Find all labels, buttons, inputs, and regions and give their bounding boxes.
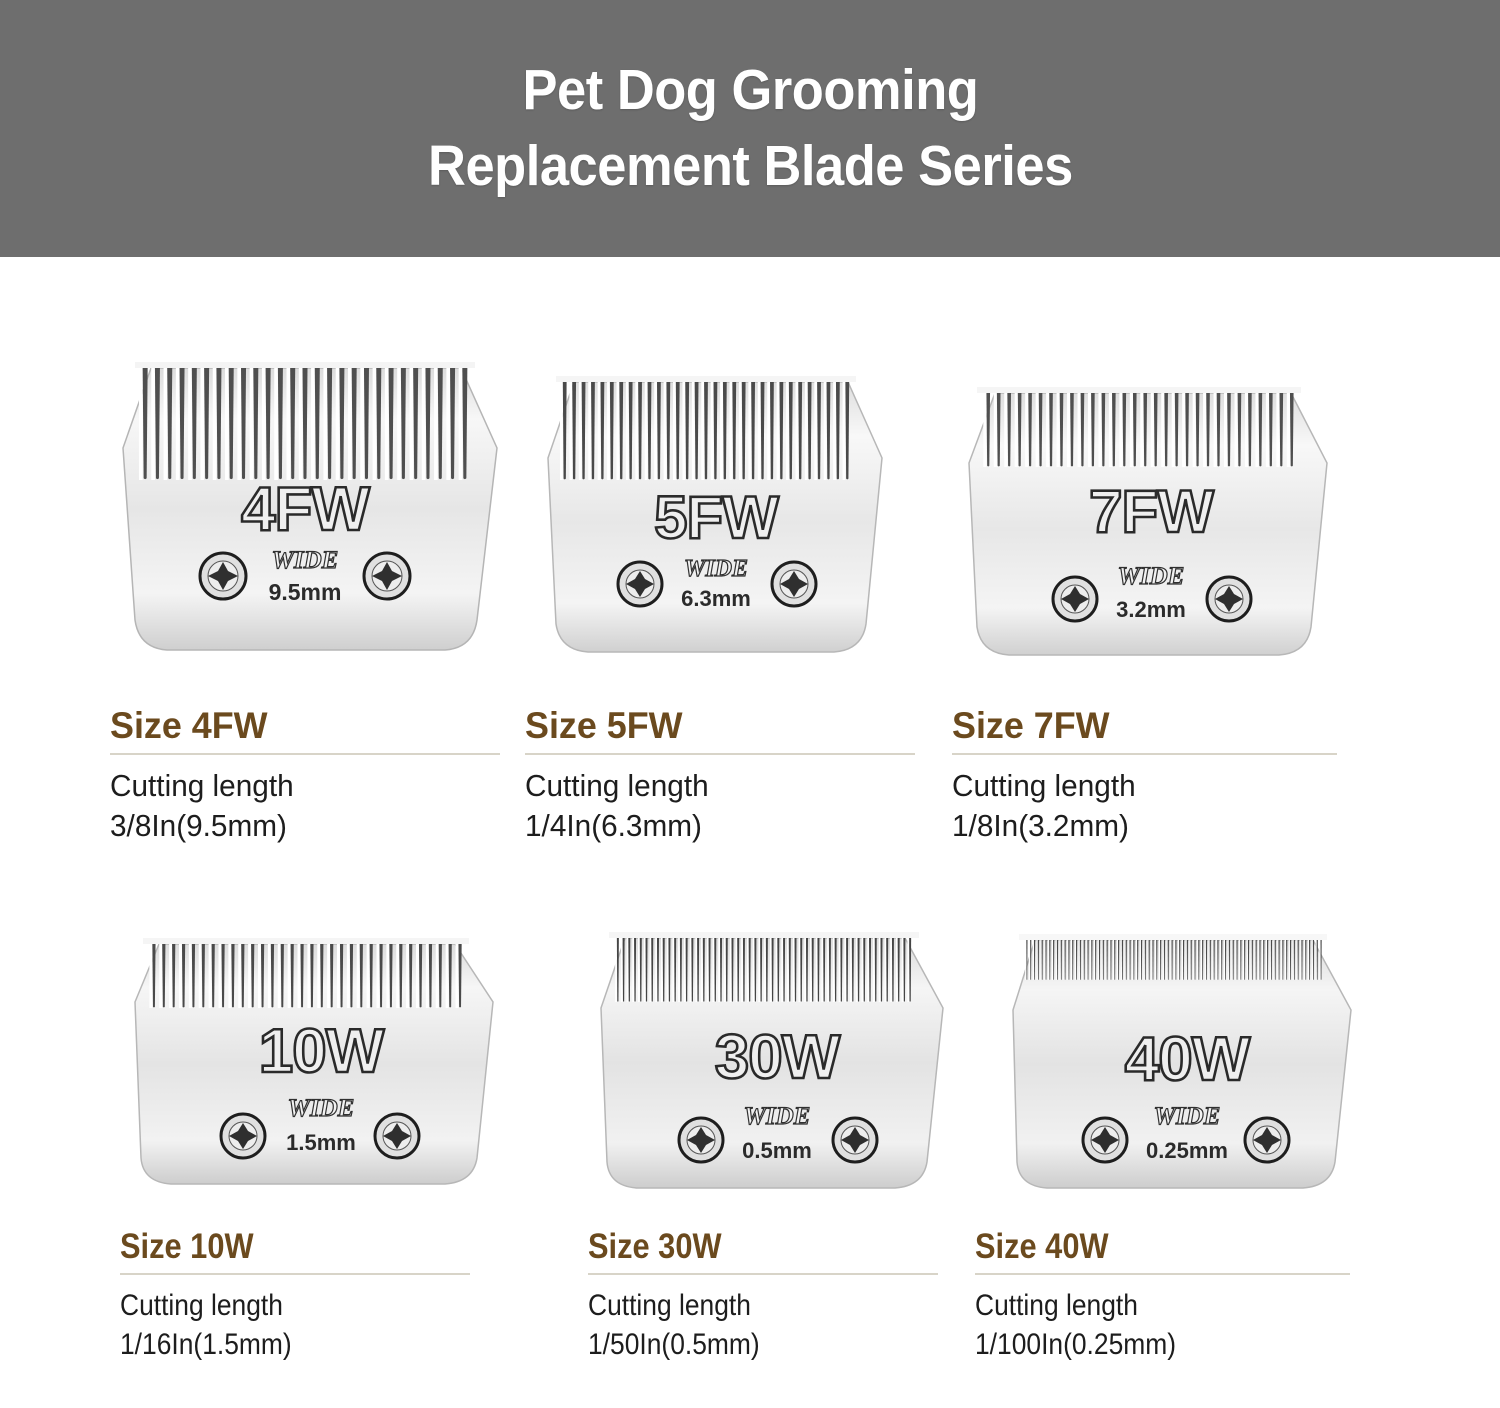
caption-title-30w: Size 30W [588, 1229, 896, 1265]
svg-text:WIDE: WIDE [1154, 1103, 1221, 1130]
caption-title-5fw: Size 5FW [525, 707, 903, 745]
blade-row-bottom: 10W WIDE 1.5mm [0, 922, 1500, 1408]
caption-rule-40w [975, 1273, 1350, 1275]
screw-right-7fw [1207, 577, 1251, 621]
caption-5fw: Size 5FW Cutting length 1/4In(6.3mm) [525, 707, 915, 846]
blade-image-5fw: 5FW WIDE 6.3mm [530, 362, 920, 662]
page-title-line-1: Pet Dog Grooming [522, 58, 978, 122]
caption-body-line1-7fw: Cutting length [952, 766, 1322, 806]
svg-text:0.25mm: 0.25mm [1146, 1138, 1228, 1163]
blade-image-4fw: 4FW WIDE 9.5mm [105, 352, 505, 662]
page-title-line-2: Replacement Blade Series [428, 129, 1073, 205]
screw-left-7fw [1053, 577, 1097, 621]
caption-title-40w: Size 40W [975, 1229, 1305, 1265]
caption-body-5fw: Cutting length 1/4In(6.3mm) [525, 766, 899, 847]
svg-text:30W: 30W [715, 1023, 841, 1092]
caption-body-10w: Cutting length 1/16In(1.5mm) [120, 1286, 428, 1364]
svg-text:WIDE: WIDE [684, 556, 748, 582]
caption-rule-10w [120, 1273, 470, 1275]
blade-illustration-40w: 40W WIDE 0.25mm [1005, 922, 1375, 1197]
svg-text:3.2mm: 3.2mm [1116, 597, 1186, 622]
blade-illustration-30w: 30W WIDE 0.5mm [593, 922, 968, 1197]
svg-text:WIDE: WIDE [744, 1103, 811, 1130]
screw-left-4fw [200, 553, 246, 599]
blade-image-10w: 10W WIDE 1.5mm [125, 930, 510, 1195]
page-title: Pet Dog Grooming Replacement Blade Serie… [428, 53, 1073, 205]
screw-left-30w [679, 1118, 723, 1162]
caption-7fw: Size 7FW Cutting length 1/8In(3.2mm) [952, 707, 1337, 846]
blade-illustration-7fw: 7FW WIDE 3.2mm [955, 377, 1345, 667]
caption-body-line1-40w: Cutting length [975, 1286, 1305, 1325]
caption-title-4fw: Size 4FW [110, 707, 488, 745]
caption-body-line2-4fw: 3/8In(9.5mm) [110, 806, 484, 846]
header-banner: Pet Dog Grooming Replacement Blade Serie… [0, 0, 1500, 257]
caption-body-line2-40w: 1/100In(0.25mm) [975, 1325, 1305, 1364]
caption-4fw: Size 4FW Cutting length 3/8In(9.5mm) [110, 707, 500, 846]
screw-left-10w [221, 1114, 265, 1158]
caption-body-line2-30w: 1/50In(0.5mm) [588, 1325, 896, 1364]
svg-text:WIDE: WIDE [272, 547, 339, 574]
blade-image-40w: 40W WIDE 0.25mm [1005, 922, 1375, 1197]
blade-row-top: 4FW WIDE 9.5mm [0, 352, 1500, 912]
caption-rule-5fw [525, 753, 915, 755]
svg-text:1.5mm: 1.5mm [286, 1130, 356, 1155]
caption-body-line2-5fw: 1/4In(6.3mm) [525, 806, 899, 846]
caption-40w: Size 40W Cutting length 1/100In(0.25mm) [975, 1229, 1350, 1364]
blade-illustration-10w: 10W WIDE 1.5mm [125, 930, 510, 1195]
caption-body-line1-4fw: Cutting length [110, 766, 484, 806]
blade-illustration-4fw: 4FW WIDE 9.5mm [105, 352, 505, 662]
caption-10w: Size 10W Cutting length 1/16In(1.5mm) [120, 1229, 470, 1364]
screw-right-5fw [772, 562, 816, 606]
svg-text:WIDE: WIDE [1118, 563, 1185, 590]
caption-30w: Size 30W Cutting length 1/50In(0.5mm) [588, 1229, 938, 1364]
caption-rule-4fw [110, 753, 500, 755]
caption-body-line1-30w: Cutting length [588, 1286, 896, 1325]
screw-left-5fw [618, 562, 662, 606]
svg-text:WIDE: WIDE [288, 1095, 355, 1122]
screw-right-4fw [364, 553, 410, 599]
screw-right-10w [375, 1114, 419, 1158]
caption-title-10w: Size 10W [120, 1229, 428, 1265]
caption-body-30w: Cutting length 1/50In(0.5mm) [588, 1286, 896, 1364]
svg-text:6.3mm: 6.3mm [681, 586, 751, 611]
caption-body-7fw: Cutting length 1/8In(3.2mm) [952, 766, 1322, 847]
caption-body-line2-7fw: 1/8In(3.2mm) [952, 806, 1322, 846]
blade-image-7fw: 7FW WIDE 3.2mm [955, 377, 1345, 667]
svg-text:0.5mm: 0.5mm [742, 1138, 812, 1163]
svg-text:5FW: 5FW [654, 484, 779, 551]
caption-title-7fw: Size 7FW [952, 707, 1325, 745]
caption-body-40w: Cutting length 1/100In(0.25mm) [975, 1286, 1305, 1364]
caption-rule-30w [588, 1273, 938, 1275]
screw-right-40w [1245, 1118, 1289, 1162]
svg-text:4FW: 4FW [241, 475, 370, 544]
caption-body-line2-10w: 1/16In(1.5mm) [120, 1325, 428, 1364]
screw-right-30w [833, 1118, 877, 1162]
svg-text:9.5mm: 9.5mm [269, 579, 342, 605]
svg-text:7FW: 7FW [1089, 478, 1214, 545]
screw-left-40w [1083, 1118, 1127, 1162]
svg-text:10W: 10W [259, 1017, 385, 1086]
svg-text:40W: 40W [1125, 1025, 1251, 1094]
blade-grid: 4FW WIDE 9.5mm [0, 257, 1500, 1408]
caption-rule-7fw [952, 753, 1337, 755]
blade-image-30w: 30W WIDE 0.5mm [593, 922, 968, 1197]
caption-body-line1-10w: Cutting length [120, 1286, 428, 1325]
caption-body-line1-5fw: Cutting length [525, 766, 899, 806]
caption-body-4fw: Cutting length 3/8In(9.5mm) [110, 766, 484, 847]
blade-illustration-5fw: 5FW WIDE 6.3mm [530, 362, 920, 662]
